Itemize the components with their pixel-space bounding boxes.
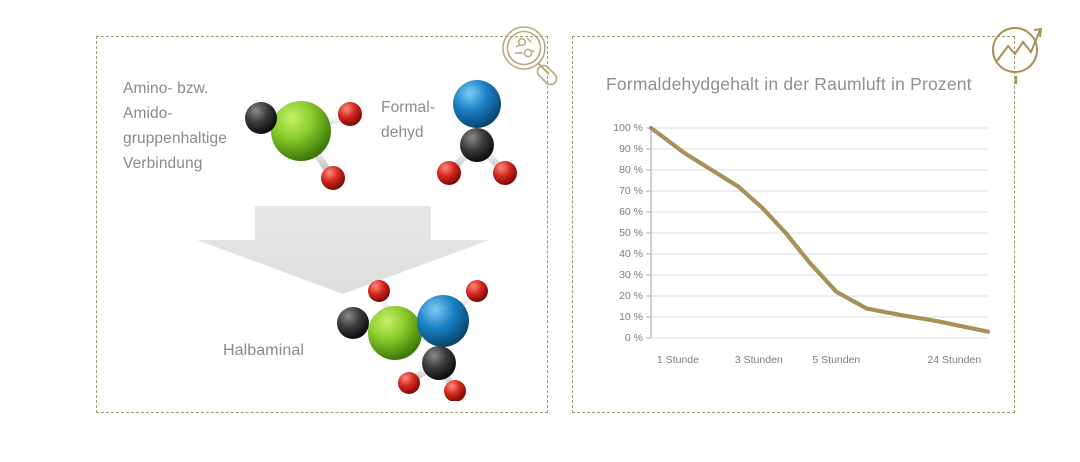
y-axis-tick-label: 40 % (599, 248, 643, 260)
atom-nitrogen (417, 295, 469, 347)
chart-title: Formaldehydgehalt in der Raumluft in Pro… (606, 74, 972, 95)
hemiaminal-molecule (329, 277, 501, 401)
amino-compound-molecule (239, 83, 369, 195)
chart-plot (596, 120, 1000, 382)
atom-carbon (337, 307, 369, 339)
y-axis-tick-label: 20 % (599, 290, 643, 302)
x-axis-tick-label: 1 Stunde (657, 354, 699, 366)
y-axis-tick-label: 70 % (599, 185, 643, 197)
atom-nitrogen (453, 80, 501, 128)
atom-oxygen (466, 280, 488, 302)
y-axis-tick-label: 100 % (599, 122, 643, 134)
y-axis-tick-label: 0 % (599, 332, 643, 344)
magnifier-molecule-icon (497, 22, 569, 94)
atom-oxygen (321, 166, 345, 190)
atom-nitrogen (368, 306, 422, 360)
canvas: Amino- bzw. Amido- gruppenhaltige Verbin… (0, 0, 1080, 462)
atom-carbon (422, 346, 456, 380)
line-chart: 0 %10 %20 %30 %40 %50 %60 %70 %80 %90 %1… (596, 120, 1000, 382)
y-axis-tick-label: 30 % (599, 269, 643, 281)
atom-carbon (460, 128, 494, 162)
atom-oxygen (368, 280, 390, 302)
y-axis-tick-label: 50 % (599, 227, 643, 239)
x-axis-tick-label: 3 Stunden (735, 354, 783, 366)
atom-oxygen (338, 102, 362, 126)
y-axis-tick-label: 10 % (599, 311, 643, 323)
chart-trend-circle-icon (984, 18, 1056, 90)
atom-nitrogen (271, 101, 331, 161)
y-axis-tick-label: 90 % (599, 143, 643, 155)
atom-oxygen (493, 161, 517, 185)
atom-oxygen (444, 380, 466, 401)
series-line (651, 128, 988, 332)
y-axis-tick-label: 80 % (599, 164, 643, 176)
x-axis-tick-label: 5 Stunden (812, 354, 860, 366)
atom-oxygen (437, 161, 461, 185)
atom-oxygen (398, 372, 420, 394)
atom-carbon (245, 102, 277, 134)
reaction-panel: Amino- bzw. Amido- gruppenhaltige Verbin… (96, 36, 548, 413)
x-axis-tick-label: 24 Stunden (927, 354, 981, 366)
y-axis-tick-label: 60 % (599, 206, 643, 218)
